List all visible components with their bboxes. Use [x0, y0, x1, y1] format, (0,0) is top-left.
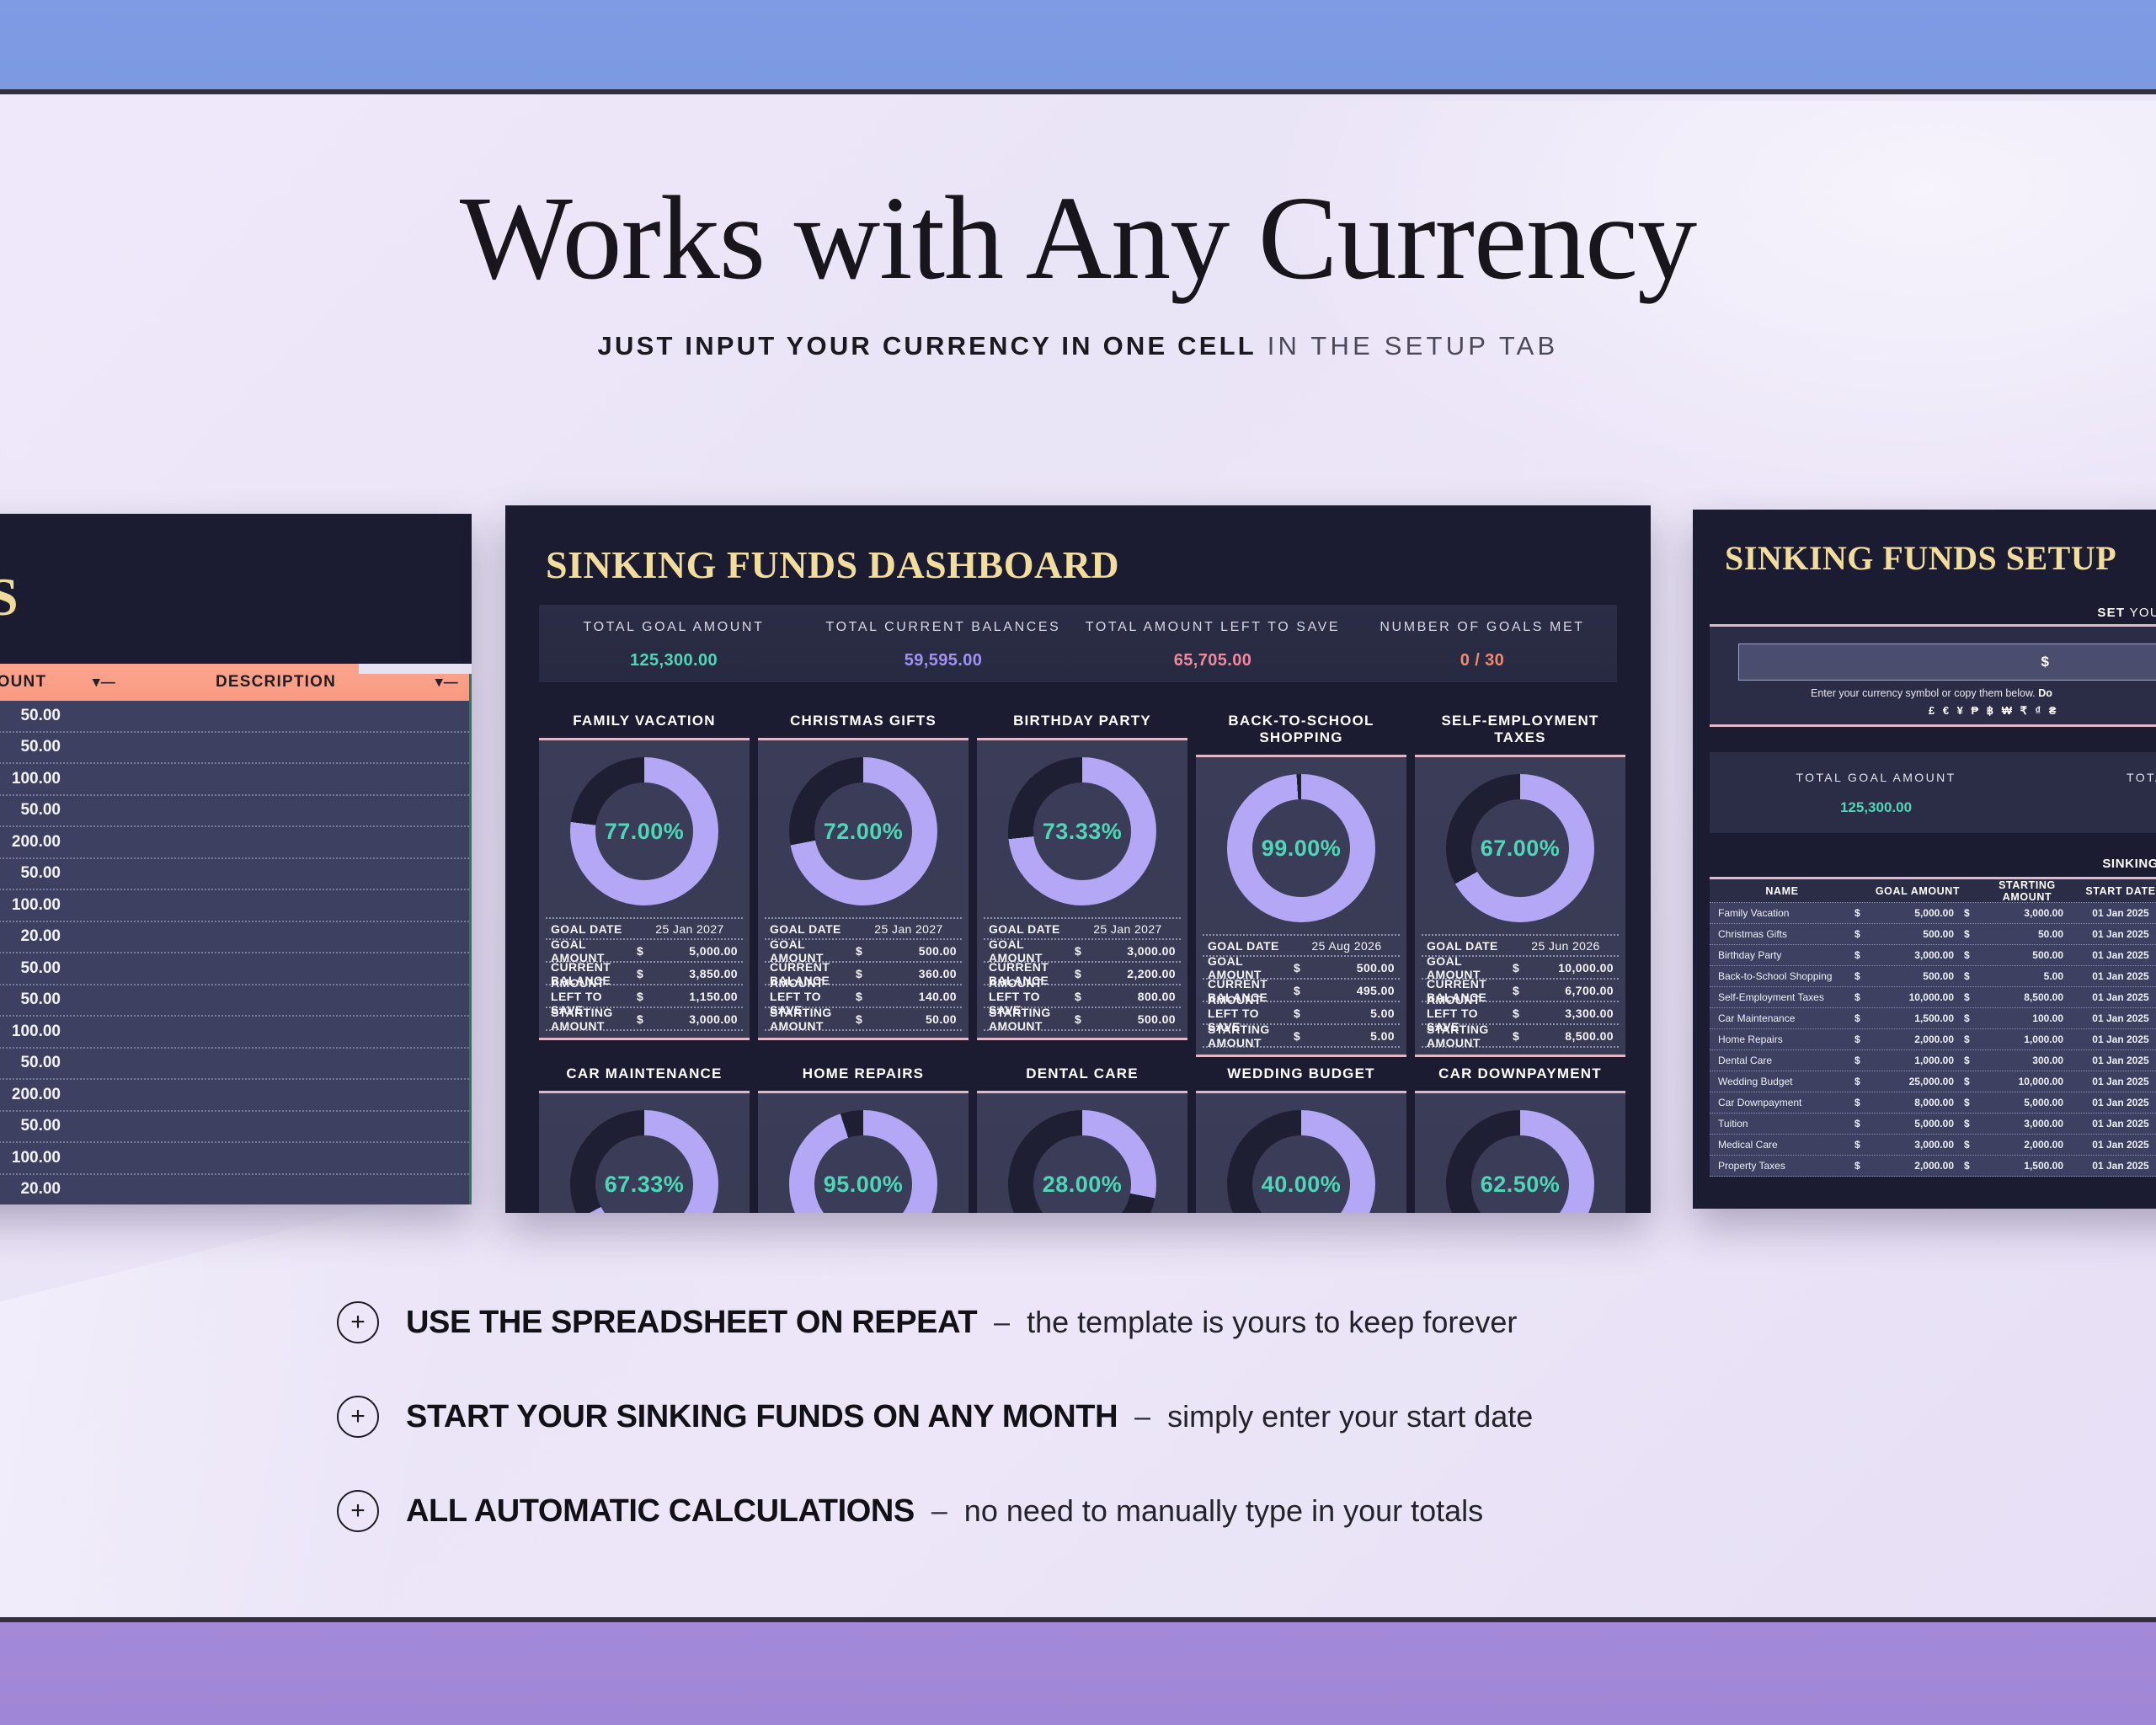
detail-value: 25 Jun 2026	[1513, 939, 1619, 953]
cell-name: Tuition	[1710, 1118, 1854, 1130]
currency-input[interactable]: $	[1738, 644, 2156, 681]
top-color-band	[0, 0, 2156, 94]
currency-symbol: $	[1513, 961, 1531, 975]
table-row[interactable]: ▼100.00	[0, 764, 469, 796]
cell-goal-amount: 1,000.00	[1871, 1055, 1964, 1066]
cell-name: Property Taxes	[1710, 1160, 1854, 1172]
filter-icon[interactable]: ▾—	[425, 674, 469, 691]
setup-info-heading-bold: SINKING FUNDS	[2102, 857, 2156, 871]
cell-amount: 50.00	[0, 959, 83, 978]
detail-label: GOAL DATE	[1422, 939, 1513, 953]
currency-symbol: $	[1854, 991, 1871, 1003]
setup-total-starting: TOTAL STARTING AMO 56,255.00	[2042, 752, 2156, 833]
fund-card-body: 62.50%	[1415, 1091, 1625, 1213]
currency-symbol: $	[1294, 984, 1312, 997]
kpi-3: TOTAL AMOUNT LEFT TO SAVE65,705.00	[1078, 605, 1347, 682]
cell-name: Car Downpayment	[1710, 1097, 1854, 1108]
detail-label: GOAL DATE	[984, 922, 1075, 936]
detail-value: 360.00	[874, 967, 962, 980]
cell-goal-amount: 8,000.00	[1871, 1097, 1964, 1108]
detail-starting-amount: STARTING AMOUNT$8,500.00	[1422, 1025, 1619, 1048]
hero-subtitle-strong: JUST INPUT YOUR CURRENCY IN ONE CELL	[598, 331, 1257, 360]
table-row[interactable]: ▼50.00	[0, 1112, 469, 1144]
detail-value: 50.00	[874, 1012, 962, 1026]
cell-name: Self-Employment Taxes	[1710, 991, 1854, 1003]
kpi-value: 125,300.00	[539, 651, 808, 670]
donut-chart: 40.00%	[1203, 1102, 1400, 1213]
detail-starting-amount: STARTING AMOUNT$3,000.00	[546, 1008, 743, 1031]
cell-starting-amount: 8,500.00	[1981, 991, 2073, 1003]
table-row[interactable]: ▼50.00	[0, 733, 469, 765]
hero-header: Works with Any Currency JUST INPUT YOUR …	[0, 177, 2156, 361]
cell-amount: 50.00	[0, 864, 83, 883]
currency-symbol: $	[1513, 1007, 1531, 1020]
cell-amount: 50.00	[0, 707, 83, 725]
bullet-dash: –	[994, 1306, 1010, 1339]
detail-value: 800.00	[1093, 990, 1181, 1003]
currency-symbol: $	[1854, 1139, 1871, 1151]
bullet-headline: ALL AUTOMATIC CALCULATIONS	[406, 1493, 915, 1530]
bullet-headline: START YOUR SINKING FUNDS ON ANY MONTH	[406, 1399, 1118, 1435]
cell-goal-amount: 2,000.00	[1871, 1033, 1964, 1045]
detail-value: 500.00	[1312, 961, 1400, 975]
fund-card-title: WEDDING BUDGET	[1196, 1065, 1406, 1082]
table-row[interactable]: Car Maintenance$1,500.00$100.0001 Jan 20…	[1710, 1008, 2156, 1029]
currency-hint-text: Enter your currency symbol or copy them …	[1811, 687, 2038, 699]
donut-chart: 62.50%	[1422, 1102, 1619, 1213]
detail-value: 3,000.00	[1093, 944, 1181, 958]
cell-name: Medical Care	[1710, 1139, 1854, 1151]
table-row[interactable]: ▼50.00	[0, 953, 469, 985]
fund-card[interactable]: DENTAL CARE28.00%	[977, 1065, 1187, 1213]
cell-goal-amount: 25,000.00	[1871, 1076, 1964, 1087]
cell-starting-amount: 2,000.00	[1981, 1139, 2073, 1151]
currency-symbol: $	[637, 967, 655, 980]
fund-card-body: 67.00%GOAL DATE25 Jun 2026GOAL AMOUNT$10…	[1415, 755, 1625, 1057]
fund-card[interactable]: HOME REPAIRS95.00%	[758, 1065, 969, 1213]
plus-circle-icon: +	[337, 1490, 379, 1532]
donut-chart: 28.00%	[984, 1102, 1181, 1213]
donut-percent-label: 67.33%	[570, 1110, 718, 1213]
cell-amount: 200.00	[0, 833, 83, 852]
fund-card-title: CAR DOWNPAYMENT	[1415, 1065, 1625, 1082]
currency-symbol: $	[1964, 1160, 1981, 1172]
currency-symbol: $	[1964, 991, 1981, 1003]
cell-start-date: 01 Jan 2025	[2073, 1033, 2156, 1045]
detail-label: GOAL DATE	[765, 922, 856, 936]
donut-chart: 67.00%	[1422, 766, 1619, 934]
kpi-label: TOTAL AMOUNT LEFT TO SAVE	[1078, 620, 1347, 635]
currency-symbol: $	[1854, 1160, 1871, 1172]
currency-symbol: $	[1294, 961, 1312, 975]
currency-symbol: $	[1964, 949, 1981, 961]
col-starting-amount: STARTING AMOUNT	[1981, 879, 2073, 903]
fund-card[interactable]: WEDDING BUDGET40.00%	[1196, 1065, 1406, 1213]
setup-total-goal: TOTAL GOAL AMOUNT 125,300.00	[1710, 752, 2042, 833]
cell-start-date: 01 Jan 2025	[2073, 970, 2156, 982]
fund-card[interactable]: CHRISTMAS GIFTS72.00%GOAL DATE25 Jan 202…	[758, 713, 969, 1057]
cell-goal-amount: 1,500.00	[1871, 1012, 1964, 1024]
detail-value: 6,700.00	[1531, 984, 1619, 997]
currency-symbol: $	[1513, 984, 1531, 997]
bullet-headline: USE THE SPREADSHEET ON REPEAT	[406, 1305, 977, 1341]
cell-start-date: 01 Jan 2025	[2073, 907, 2156, 919]
table-row[interactable]: Car Downpayment$8,000.00$5,000.0001 Jan …	[1710, 1092, 2156, 1114]
hero-subtitle-light: IN THE SETUP TAB	[1267, 331, 1559, 360]
kpi-2: TOTAL CURRENT BALANCES59,595.00	[808, 605, 1078, 682]
table-row[interactable]: ▼50.00	[0, 701, 469, 733]
currency-symbol: $	[1294, 1029, 1312, 1043]
donut-percent-label: 40.00%	[1227, 1110, 1375, 1213]
donut-percent-label: 99.00%	[1227, 774, 1375, 922]
fund-card-title: DENTAL CARE	[977, 1065, 1187, 1082]
detail-label: STARTING AMOUNT	[546, 1006, 637, 1033]
table-row[interactable]: ▼50.00	[0, 796, 469, 828]
cell-name: Family Vacation	[1710, 907, 1854, 919]
cell-name: Home Repairs	[1710, 1033, 1854, 1045]
cell-starting-amount: 50.00	[1981, 928, 2073, 940]
fund-card-title: CHRISTMAS GIFTS	[758, 713, 969, 729]
currency-symbol: $	[1075, 944, 1093, 958]
col-start-date: START DATE	[2073, 885, 2156, 897]
fund-card-body: 95.00%	[758, 1091, 969, 1213]
detail-value: 495.00	[1312, 984, 1400, 997]
donut-chart: 72.00%	[765, 749, 962, 917]
cell-goal-amount: 500.00	[1871, 970, 1964, 982]
fund-card[interactable]: BACK-TO-SCHOOL SHOPPING99.00%GOAL DATE25…	[1196, 713, 1406, 1057]
fund-details: GOAL DATE25 Jan 2027GOAL AMOUNT$5,000.00…	[546, 917, 743, 1031]
kpi-label: NUMBER OF GOALS MET	[1347, 620, 1617, 635]
bullet-dash: –	[931, 1495, 947, 1528]
currency-symbol: $	[1964, 928, 1981, 940]
kpi-label: TOTAL CURRENT BALANCES	[808, 620, 1078, 635]
currency-symbol: $	[1075, 1012, 1093, 1026]
currency-symbol: $	[1854, 928, 1871, 940]
cell-goal-amount: 2,000.00	[1871, 1160, 1964, 1172]
setup-total-goal-value: 125,300.00	[1710, 799, 2042, 816]
cell-starting-amount: 1,500.00	[1981, 1160, 2073, 1172]
cell-starting-amount: 5.00	[1981, 970, 2073, 982]
left-panel-table[interactable]: ▾— AMOUNT ▾— DESCRIPTION ▾— ▼50.00▼50.00…	[0, 664, 472, 1204]
currency-symbol: $	[1964, 1097, 1981, 1108]
setup-funds-table[interactable]: NAME GOAL AMOUNT STARTING AMOUNT START D…	[1710, 877, 2156, 1177]
fund-card-title: CAR MAINTENANCE	[539, 1065, 750, 1082]
currency-symbol: $	[856, 944, 874, 958]
table-row[interactable]: ▼200.00	[0, 1080, 469, 1112]
fund-card-title: HOME REPAIRS	[758, 1065, 969, 1082]
setup-table-header: NAME GOAL AMOUNT STARTING AMOUNT START D…	[1710, 879, 2156, 903]
list-item: +USE THE SPREADSHEET ON REPEAT–the templ…	[337, 1301, 1853, 1343]
cell-starting-amount: 5,000.00	[1981, 1097, 2073, 1108]
cell-name: Wedding Budget	[1710, 1076, 1854, 1087]
cell-start-date: 01 Jan 2025	[2073, 928, 2156, 940]
currency-symbol-row[interactable]: £ € ¥ ₱ ฿ ₩ ₹ ₫ ₴	[1929, 704, 2058, 718]
set-currency-label: SET YOUR CURRENCY	[2097, 606, 2156, 620]
donut-percent-label: 77.00%	[570, 757, 718, 905]
table-row[interactable]: Tuition$5,000.00$3,000.0001 Jan 202525 S	[1710, 1114, 2156, 1135]
cell-amount: 100.00	[0, 1023, 83, 1041]
left-panel-title: S	[0, 566, 19, 628]
currency-symbol: $	[1964, 907, 1981, 919]
cell-amount: 50.00	[0, 1117, 83, 1135]
hero-subtitle: JUST INPUT YOUR CURRENCY IN ONE CELL IN …	[0, 331, 2156, 361]
fund-card-title: FAMILY VACATION	[539, 713, 750, 729]
fund-card-body: 67.33%	[539, 1091, 750, 1213]
cell-starting-amount: 500.00	[1981, 949, 2073, 961]
setup-panel[interactable]: SINKING FUNDS SETUP SET YOUR CURRENCY $ …	[1693, 510, 2156, 1209]
cell-starting-amount: 100.00	[1981, 1012, 2073, 1024]
currency-symbol: $	[1854, 1055, 1871, 1066]
donut-percent-label: 95.00%	[789, 1110, 937, 1213]
left-panel-edge-highlight	[359, 664, 472, 674]
cell-start-date: 01 Jan 2025	[2073, 1076, 2156, 1087]
dashboard-panel[interactable]: SINKING FUNDS DASHBOARD TOTAL GOAL AMOUN…	[505, 505, 1651, 1213]
detail-value: 3,850.00	[655, 967, 743, 980]
cell-amount: 50.00	[0, 1054, 83, 1072]
currency-symbol: $	[1513, 1029, 1531, 1043]
cell-start-date: 01 Jan 2025	[2073, 1097, 2156, 1108]
detail-value: 500.00	[874, 944, 962, 958]
currency-symbol: $	[637, 944, 655, 958]
donut-chart: 95.00%	[765, 1102, 962, 1213]
setup-table-body[interactable]: Family Vacation$5,000.00$3,000.0001 Jan …	[1710, 903, 2156, 1177]
dashboard-title: SINKING FUNDS DASHBOARD	[546, 542, 1119, 587]
currency-symbol: $	[1075, 967, 1093, 980]
cell-goal-amount: 3,000.00	[1871, 1139, 1964, 1151]
bullet-detail: no need to manually type in your totals	[964, 1493, 1483, 1529]
currency-symbol: $	[856, 990, 874, 1003]
detail-value: 25 Jan 2027	[856, 922, 962, 936]
currency-symbol: $	[1854, 1118, 1871, 1130]
cell-starting-amount: 10,000.00	[1981, 1076, 2073, 1087]
detail-value: 5,000.00	[655, 944, 743, 958]
bullet-dash: –	[1134, 1401, 1150, 1434]
left-spreadsheet-panel[interactable]: S ▾— AMOUNT ▾— DESCRIPTION ▾— ▼50.00▼50.…	[0, 514, 472, 1204]
table-row[interactable]: ▼100.00	[0, 1017, 469, 1049]
currency-symbol: $	[1854, 1076, 1871, 1087]
cell-name: Dental Care	[1710, 1055, 1854, 1066]
cell-name: Birthday Party	[1710, 949, 1854, 961]
setup-total-goal-label: TOTAL GOAL AMOUNT	[1710, 771, 2042, 784]
detail-value: 25 Jan 2027	[1075, 922, 1181, 936]
detail-starting-amount: STARTING AMOUNT$500.00	[984, 1008, 1181, 1031]
filter-icon[interactable]: ▾—	[83, 674, 126, 691]
page-title: Works with Any Currency	[0, 177, 2156, 299]
currency-symbol: $	[856, 1012, 874, 1026]
currency-symbol: $	[1964, 1118, 1981, 1130]
kpi-4: NUMBER OF GOALS MET0 / 30	[1347, 605, 1617, 682]
fund-card-grid[interactable]: FAMILY VACATION77.00%GOAL DATE25 Jan 202…	[539, 713, 1625, 1213]
cell-amount: 50.00	[0, 801, 83, 820]
cell-start-date: 01 Jan 2025	[2073, 991, 2156, 1003]
currency-symbol: $	[1964, 1139, 1981, 1151]
currency-symbol: $	[1964, 1055, 1981, 1066]
cell-goal-amount: 500.00	[1871, 928, 1964, 940]
col-goal-amount: GOAL AMOUNT	[1871, 885, 1964, 897]
donut-chart: 73.33%	[984, 749, 1181, 917]
table-row[interactable]: Home Repairs$2,000.00$1,000.0001 Jan 202…	[1710, 1029, 2156, 1050]
detail-label: STARTING AMOUNT	[1422, 1023, 1513, 1049]
setup-total-starting-value: 56,255.00	[2042, 799, 2156, 816]
fund-card-title: BIRTHDAY PARTY	[977, 713, 1187, 729]
fund-card-body: 73.33%GOAL DATE25 Jan 2027GOAL AMOUNT$3,…	[977, 738, 1187, 1040]
detail-label: STARTING AMOUNT	[984, 1006, 1075, 1033]
table-row[interactable]: ▼50.00	[0, 859, 469, 891]
fund-card[interactable]: SELF-EMPLOYMENT TAXES67.00%GOAL DATE25 J…	[1415, 713, 1625, 1057]
cell-amount: 100.00	[0, 1149, 83, 1167]
table-row[interactable]: ▼20.00	[0, 1175, 469, 1205]
column-header-description: DESCRIPTION	[126, 673, 425, 692]
detail-value: 5.00	[1312, 1029, 1400, 1043]
cell-amount: 100.00	[0, 896, 83, 915]
cell-goal-amount: 5,000.00	[1871, 907, 1964, 919]
currency-hint: Enter your currency symbol or copy them …	[1811, 687, 2052, 699]
table-row[interactable]: ▼100.00	[0, 890, 469, 922]
table-row[interactable]: Wedding Budget$25,000.00$10,000.0001 Jan…	[1710, 1071, 2156, 1092]
detail-value: 140.00	[874, 990, 962, 1003]
left-table-body[interactable]: ▼50.00▼50.00▼100.00▼50.00▼200.00▼50.00▼1…	[0, 701, 472, 1204]
currency-symbol: $	[1854, 1033, 1871, 1045]
cell-amount: 50.00	[0, 991, 83, 1009]
fund-card-body: 99.00%GOAL DATE25 Aug 2026GOAL AMOUNT$50…	[1196, 755, 1406, 1057]
cell-amount: 200.00	[0, 1086, 83, 1104]
table-row[interactable]: Property Taxes$2,000.00$1,500.0001 Jan 2…	[1710, 1156, 2156, 1177]
donut-percent-label: 62.50%	[1446, 1110, 1594, 1213]
table-row[interactable]: ▼200.00	[0, 827, 469, 859]
cell-amount: 50.00	[0, 738, 83, 756]
detail-value: 500.00	[1093, 1012, 1181, 1026]
detail-value: 25 Aug 2026	[1294, 939, 1400, 953]
kpi-value: 0 / 30	[1347, 651, 1617, 670]
detail-value: 8,500.00	[1531, 1029, 1619, 1043]
detail-label: GOAL DATE	[546, 922, 637, 936]
currency-symbol: $	[1964, 1076, 1981, 1087]
kpi-1: TOTAL GOAL AMOUNT125,300.00	[539, 605, 808, 682]
cell-name: Christmas Gifts	[1710, 928, 1854, 940]
donut-percent-label: 72.00%	[789, 757, 937, 905]
cell-starting-amount: 3,000.00	[1981, 907, 2073, 919]
currency-symbol: $	[637, 1012, 655, 1026]
currency-symbol: $	[1964, 1033, 1981, 1045]
cell-amount: 20.00	[0, 927, 83, 946]
currency-symbol: $	[1964, 970, 1981, 982]
cell-start-date: 01 Jan 2025	[2073, 1139, 2156, 1151]
fund-card-body: 40.00%	[1196, 1091, 1406, 1213]
currency-symbol: $	[1294, 1007, 1312, 1020]
detail-value: 3,000.00	[655, 1012, 743, 1026]
donut-chart: 99.00%	[1203, 766, 1400, 934]
cell-name: Back-to-School Shopping	[1710, 970, 1854, 982]
currency-symbol: $	[1854, 1012, 1871, 1024]
table-row[interactable]: Birthday Party$3,000.00$500.0001 Jan 202…	[1710, 945, 2156, 966]
plus-circle-icon: +	[337, 1396, 379, 1438]
kpi-summary-bar: TOTAL GOAL AMOUNT125,300.00TOTAL CURRENT…	[539, 605, 1617, 682]
table-row[interactable]: Medical Care$3,000.00$2,000.0001 Jan 202…	[1710, 1135, 2156, 1156]
cell-starting-amount: 1,000.00	[1981, 1033, 2073, 1045]
table-row[interactable]: ▼100.00	[0, 1143, 469, 1175]
set-currency-label-strong: SET	[2097, 606, 2125, 620]
currency-hint-bold: Do	[2038, 687, 2052, 699]
table-row[interactable]: ▼50.00	[0, 985, 469, 1017]
fund-card-body: 72.00%GOAL DATE25 Jan 2027GOAL AMOUNT$50…	[758, 738, 969, 1040]
cell-start-date: 01 Jan 2025	[2073, 1055, 2156, 1066]
kpi-value: 65,705.00	[1078, 651, 1347, 670]
donut-percent-label: 73.33%	[1008, 757, 1156, 905]
donut-percent-label: 67.00%	[1446, 774, 1594, 922]
table-row[interactable]: Back-to-School Shopping$500.00$5.0001 Ja…	[1710, 966, 2156, 987]
currency-setting-box: $ Enter your currency symbol or copy the…	[1710, 624, 2156, 727]
table-row[interactable]: Self-Employment Taxes$10,000.00$8,500.00…	[1710, 987, 2156, 1008]
fund-card[interactable]: BIRTHDAY PARTY73.33%GOAL DATE25 Jan 2027…	[977, 713, 1187, 1057]
detail-starting-amount: STARTING AMOUNT$5.00	[1203, 1025, 1400, 1048]
kpi-value: 59,595.00	[808, 651, 1078, 670]
col-name: NAME	[1710, 885, 1854, 897]
currency-symbol: $	[1075, 990, 1093, 1003]
cell-goal-amount: 3,000.00	[1871, 949, 1964, 961]
table-row[interactable]: Dental Care$1,000.00$300.0001 Jan 20250	[1710, 1050, 2156, 1071]
setup-info-heading: SINKING FUNDS INFORM	[2102, 857, 2156, 871]
kpi-label: TOTAL GOAL AMOUNT	[539, 620, 808, 635]
currency-symbol: $	[1854, 949, 1871, 961]
column-header-amount: AMOUNT	[0, 673, 83, 692]
setup-totals-bar: TOTAL GOAL AMOUNT 125,300.00 TOTAL START…	[1710, 752, 2156, 833]
donut-chart: 67.33%	[546, 1102, 743, 1213]
fund-card-title: BACK-TO-SCHOOL SHOPPING	[1196, 713, 1406, 746]
cell-start-date: 01 Jan 2025	[2073, 1160, 2156, 1172]
detail-value: 3,300.00	[1531, 1007, 1619, 1020]
fund-details: GOAL DATE25 Aug 2026GOAL AMOUNT$500.00CU…	[1203, 934, 1400, 1048]
fund-card[interactable]: FAMILY VACATION77.00%GOAL DATE25 Jan 202…	[539, 713, 750, 1057]
screenshot-panels: S ▾— AMOUNT ▾— DESCRIPTION ▾— ▼50.00▼50.…	[0, 505, 2156, 1213]
fund-card[interactable]: CAR MAINTENANCE67.33%	[539, 1065, 750, 1213]
cell-start-date: 01 Jan 2025	[2073, 1118, 2156, 1130]
table-row[interactable]: ▼20.00	[0, 922, 469, 954]
cell-amount: 20.00	[0, 1180, 83, 1199]
list-item: +START YOUR SINKING FUNDS ON ANY MONTH–s…	[337, 1396, 1853, 1438]
detail-value: 25 Jan 2027	[637, 922, 743, 936]
detail-value: 1,150.00	[655, 990, 743, 1003]
currency-symbol: $	[1854, 970, 1871, 982]
table-row[interactable]: ▼50.00	[0, 1049, 469, 1081]
detail-starting-amount: STARTING AMOUNT$50.00	[765, 1008, 962, 1031]
detail-value: 10,000.00	[1531, 961, 1619, 975]
cell-start-date: 01 Jan 2025	[2073, 949, 2156, 961]
cell-goal-amount: 5,000.00	[1871, 1118, 1964, 1130]
fund-card[interactable]: CAR DOWNPAYMENT62.50%	[1415, 1065, 1625, 1213]
detail-label: GOAL DATE	[1203, 939, 1294, 953]
detail-label: STARTING AMOUNT	[1203, 1023, 1294, 1049]
bullet-detail: the template is yours to keep forever	[1027, 1305, 1517, 1340]
detail-label: STARTING AMOUNT	[765, 1006, 856, 1033]
table-row[interactable]: Christmas Gifts$500.00$50.0001 Jan 20252…	[1710, 924, 2156, 945]
currency-symbol: $	[637, 990, 655, 1003]
fund-card-title: SELF-EMPLOYMENT TAXES	[1415, 713, 1625, 746]
setup-panel-title: SINKING FUNDS SETUP	[1725, 538, 2116, 578]
table-row[interactable]: Family Vacation$5,000.00$3,000.0001 Jan …	[1710, 903, 2156, 924]
donut-percent-label: 28.00%	[1008, 1110, 1156, 1213]
cell-name: Car Maintenance	[1710, 1012, 1854, 1024]
cell-start-date: 01 Jan 2025	[2073, 1012, 2156, 1024]
feature-bullet-list: +USE THE SPREADSHEET ON REPEAT–the templ…	[337, 1301, 1853, 1584]
setup-total-starting-label: TOTAL STARTING AMO	[2042, 771, 2156, 784]
fund-card-body: 28.00%	[977, 1091, 1187, 1213]
cell-amount: 100.00	[0, 770, 83, 788]
bullet-detail: simply enter your start date	[1167, 1399, 1533, 1434]
detail-value: 5.00	[1312, 1007, 1400, 1020]
cell-goal-amount: 10,000.00	[1871, 991, 1964, 1003]
fund-details: GOAL DATE25 Jun 2026GOAL AMOUNT$10,000.0…	[1422, 934, 1619, 1048]
detail-value: 2,200.00	[1093, 967, 1181, 980]
